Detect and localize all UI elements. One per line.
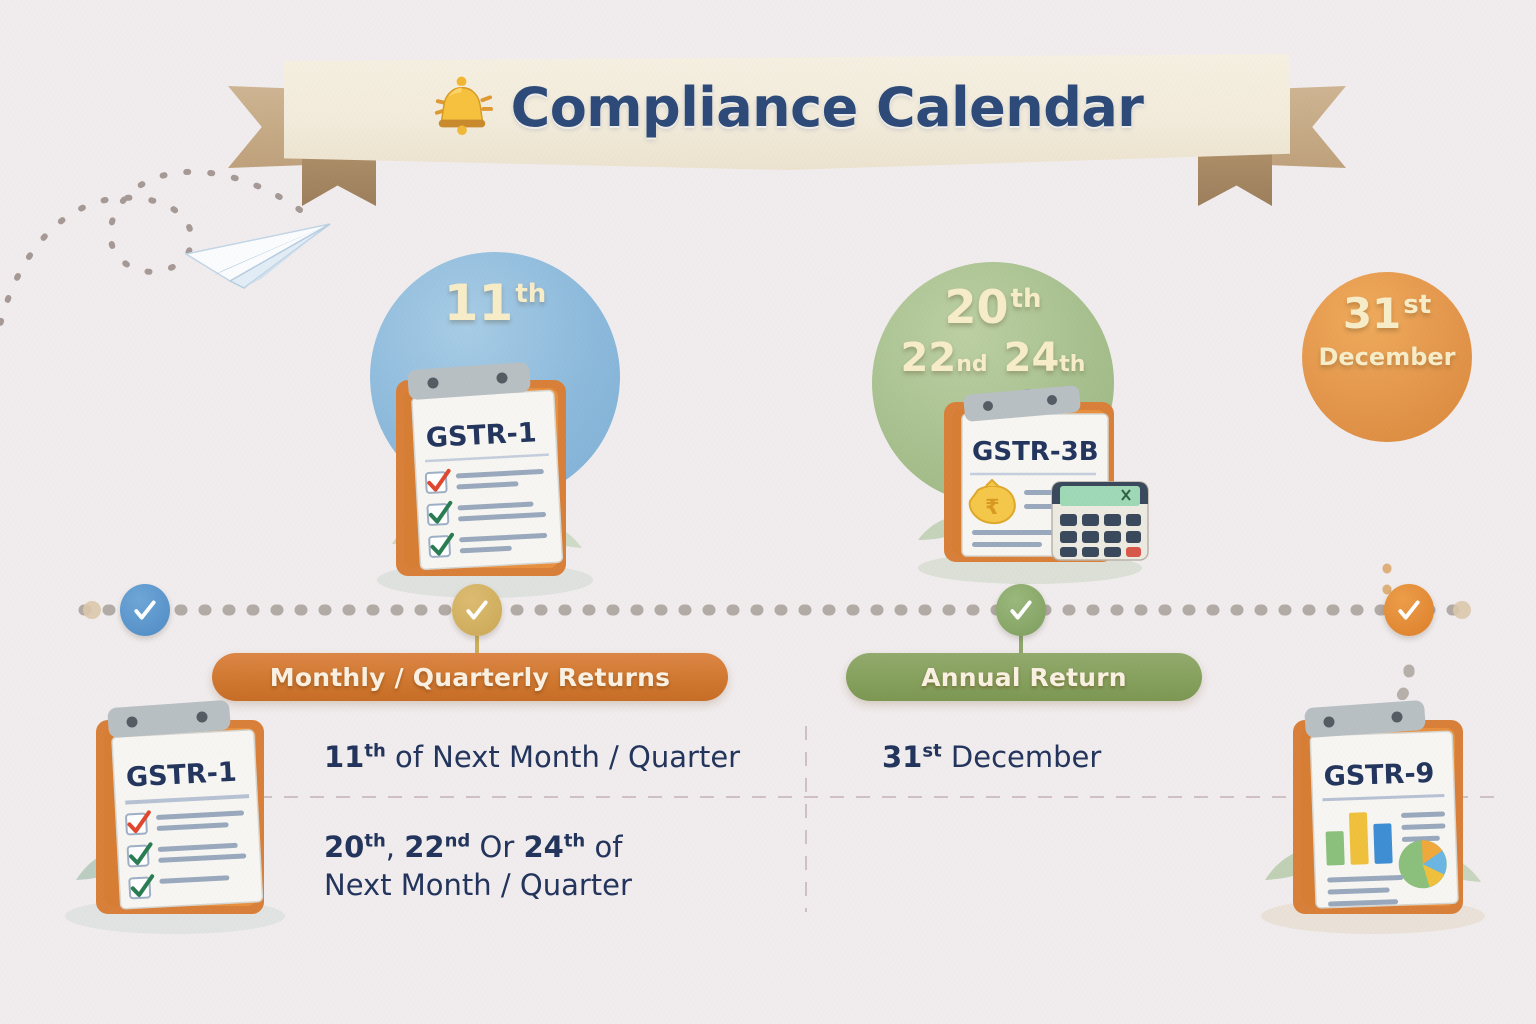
detail-num-31: 31 (882, 740, 922, 774)
date-badge-row2: 22nd 24th (901, 338, 1086, 378)
detail-num-11: 11 (324, 740, 364, 774)
day-suffix: th (515, 279, 546, 309)
bell-icon (431, 76, 493, 138)
infographic-canvas: Compliance Calendar 11th 20th 22nd 24th … (0, 0, 1536, 1024)
clipboard-gstr1-bottom: GSTR-1 (50, 690, 300, 940)
check-icon (1008, 597, 1034, 623)
day-number-22: 22nd (901, 338, 988, 378)
detail-next-month-quarter: Next Month / Quarter (324, 868, 632, 902)
clipboard-gstr3b: GSTR-3B ₹ (900, 378, 1160, 588)
ribbon-fold-right (1198, 152, 1272, 206)
timeline-node-green[interactable] (996, 584, 1046, 636)
day-suffix: th (1011, 284, 1042, 314)
clipboard-title-gstr3b: GSTR-3B (972, 437, 1099, 467)
paper-plane-icon (186, 224, 330, 288)
clipboard-gstr9: GSTR-9 (1245, 690, 1500, 940)
vertical-divider (805, 726, 807, 912)
date-badge-row1: 20th (945, 284, 1042, 330)
pill-annual-return[interactable]: Annual Return (846, 653, 1202, 701)
detail-num-22: 22 (404, 830, 444, 864)
timeline-node-orange[interactable] (1384, 584, 1434, 636)
check-icon (132, 597, 158, 623)
banner-body: Compliance Calendar (284, 54, 1290, 170)
date-badge-month: December (1318, 343, 1455, 371)
detail-annual-line: 31st December (882, 738, 1101, 776)
day-number: 20 (945, 280, 1009, 334)
date-badge-31st-december: 31st December (1302, 272, 1472, 442)
day-suffix: st (1403, 290, 1431, 320)
date-badge-11th-number: 11th (444, 278, 547, 328)
check-icon (1396, 597, 1422, 623)
day-number-24: 24th (1004, 338, 1086, 378)
date-badge-31st-number: 31st (1343, 292, 1431, 335)
svg-text:₹: ₹ (985, 495, 1000, 519)
calculator-icon (1052, 482, 1148, 560)
check-icon (464, 597, 490, 623)
detail-monthly-line2: 20th, 22nd Or 24th ofNext Month / Quarte… (324, 828, 754, 905)
page-title: Compliance Calendar (511, 76, 1144, 139)
banner: Compliance Calendar (228, 34, 1346, 184)
timeline-node-blue[interactable] (120, 584, 170, 636)
detail-num-20: 20 (324, 830, 364, 864)
timeline-node-gold[interactable] (452, 584, 502, 636)
clipboard-title-gstr9: GSTR-9 (1323, 758, 1435, 793)
day-number: 31 (1343, 289, 1401, 338)
clipboard-title-gstr1-top: GSTR-1 (425, 417, 537, 454)
day-number: 11 (444, 274, 514, 332)
detail-num-24: 24 (523, 830, 563, 864)
detail-monthly-line1: 11th of Next Month / Quarter (324, 738, 740, 776)
clipboard-title-gstr1-bottom: GSTR-1 (125, 757, 237, 794)
